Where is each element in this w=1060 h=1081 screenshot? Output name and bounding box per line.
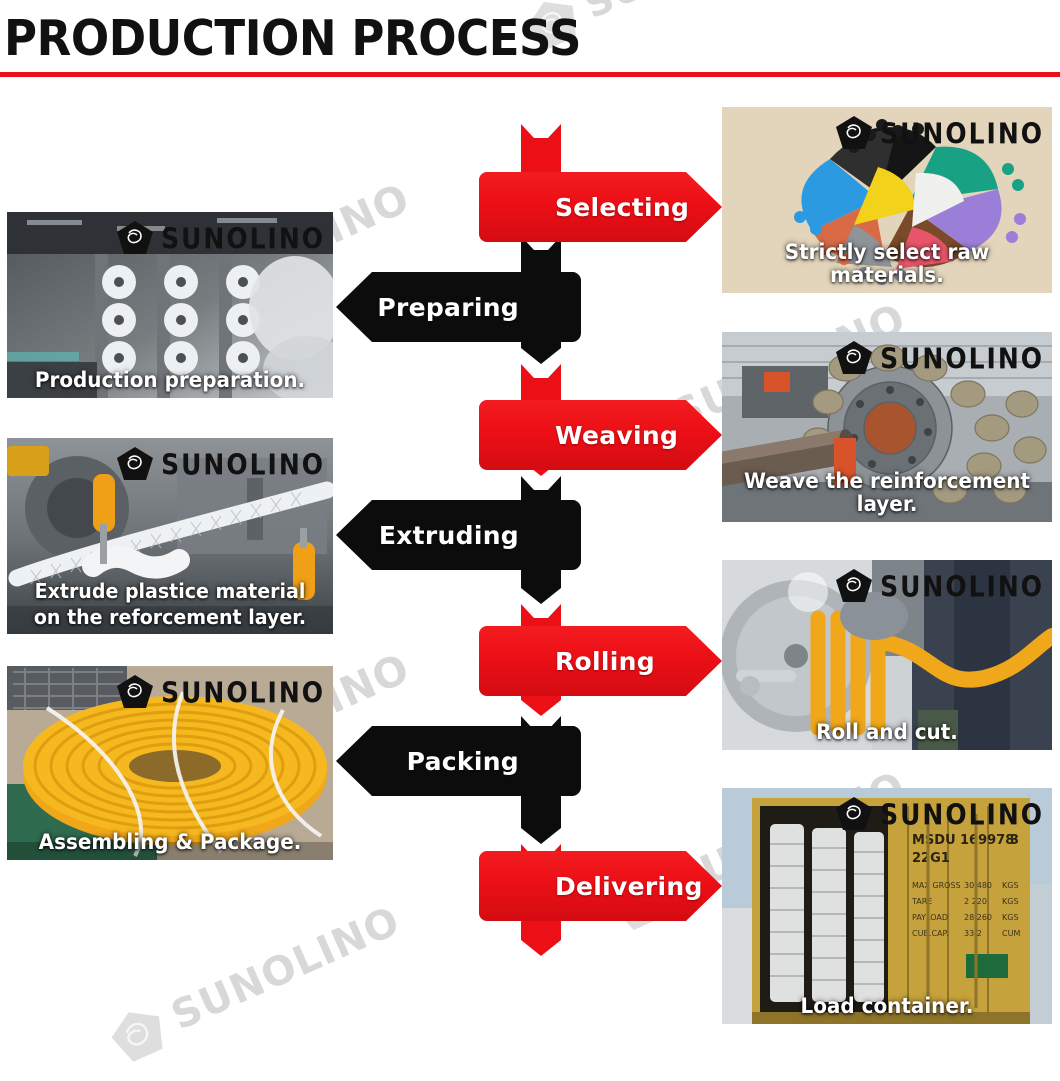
photo-brand-name: SUNOLINO (880, 800, 1044, 829)
photo-brand-lockup: SUNOLINO (834, 340, 1044, 376)
flow-step-label: Selecting (555, 193, 689, 222)
photo-brand-name: SUNOLINO (161, 678, 325, 707)
photo-caption: Weave the reinforcement layer. (730, 470, 1044, 517)
photo-card-weave-reinforcement: SUNOLINO Weave the reinforcement layer. (722, 332, 1052, 522)
photo-brand-name: SUNOLINO (161, 224, 325, 253)
photo-card-assembling-package: SUNOLINO Assembling & Package. (7, 666, 333, 860)
sunolino-logo-icon (115, 446, 155, 482)
sunolino-logo-icon (115, 674, 155, 710)
photo-caption: Roll and cut. (730, 721, 1044, 745)
photo-brand-name: SUNOLINO (161, 450, 325, 479)
flow-step-selecting[interactable]: Selecting (479, 172, 722, 242)
flow-step-label: Preparing (377, 293, 519, 322)
page-title: PRODUCTION PROCESS (4, 14, 581, 63)
container-number: 169978 (960, 833, 1014, 848)
photo-caption: Strictly select raw materials. (730, 241, 1044, 288)
container-type: 22G1 (912, 851, 950, 866)
title-underline (0, 72, 1060, 77)
sunolino-logo-icon (834, 568, 874, 604)
flow-step-preparing[interactable]: Preparing (336, 272, 581, 342)
container-check: 3 (1010, 833, 1019, 848)
photo-brand-name: SUNOLINO (880, 344, 1044, 373)
flow-step-label: Packing (407, 747, 519, 776)
flow-step-rolling[interactable]: Rolling (479, 626, 722, 696)
photo-caption-line1: Extrude plastice material (15, 580, 325, 602)
photo-brand-lockup: SUNOLINO (115, 446, 325, 482)
watermark: SUNOLINO (101, 895, 408, 1070)
flow-step-extruding[interactable]: Extruding (336, 500, 581, 570)
photo-brand-lockup: SUNOLINO (115, 674, 325, 710)
svg-text:28 260: 28 260 (964, 913, 992, 922)
flow-step-label: Weaving (555, 421, 678, 450)
sunolino-logo-icon (101, 999, 175, 1070)
svg-text:PAYLOAD: PAYLOAD (912, 913, 948, 922)
svg-text:CUM: CUM (1002, 929, 1020, 938)
photo-caption: Production preparation. (15, 369, 325, 393)
photo-card-production-preparation: SUNOLINO Production preparation. (7, 212, 333, 398)
flow-step-weaving[interactable]: Weaving (479, 400, 722, 470)
photo-brand-lockup: SUNOLINO (834, 115, 1044, 151)
flow-step-delivering[interactable]: Delivering (479, 851, 722, 921)
photo-brand-name: SUNOLINO (880, 572, 1044, 601)
photo-card-roll-and-cut: SUNOLINO Roll and cut. (722, 560, 1052, 750)
photo-card-load-container: MSDU 169978 3 22G1 MAX GROSS30 480KGS TA… (722, 788, 1052, 1024)
sunolino-logo-icon (834, 796, 874, 832)
svg-text:30 480: 30 480 (964, 881, 992, 890)
svg-text:KGS: KGS (1002, 897, 1019, 906)
flow-step-label: Extruding (379, 521, 519, 550)
sunolino-logo-icon (834, 340, 874, 376)
photo-caption: Assembling & Package. (15, 831, 325, 855)
sunolino-logo-icon (115, 220, 155, 256)
photo-caption: Load container. (730, 995, 1044, 1019)
page-header: PRODUCTION PROCESS (0, 0, 1060, 86)
sunolino-logo-icon (834, 115, 874, 151)
watermark-text: SUNOLINO (166, 901, 406, 1037)
photo-brand-lockup: SUNOLINO (115, 220, 325, 256)
photo-card-raw-materials: SUNOLINO Strictly select raw materials. (722, 107, 1052, 293)
svg-text:CUB.CAP.: CUB.CAP. (912, 929, 949, 938)
photo-caption-line2: on the reforcement layer. (15, 606, 325, 628)
photo-brand-lockup: SUNOLINO (834, 568, 1044, 604)
flow-step-label: Rolling (555, 647, 655, 676)
svg-text:KGS: KGS (1002, 913, 1019, 922)
flow-step-label: Delivering (555, 872, 703, 901)
photo-brand-name: SUNOLINO (880, 119, 1044, 148)
container-code: MSDU (912, 833, 956, 848)
svg-text:33.2: 33.2 (964, 929, 982, 938)
svg-text:MAX GROSS: MAX GROSS (912, 881, 961, 890)
flow-step-packing[interactable]: Packing (336, 726, 581, 796)
photo-card-extrude-plastic: SUNOLINO Extrude plastice material on th… (7, 438, 333, 634)
svg-text:KGS: KGS (1002, 881, 1019, 890)
photo-brand-lockup: SUNOLINO (834, 796, 1044, 832)
